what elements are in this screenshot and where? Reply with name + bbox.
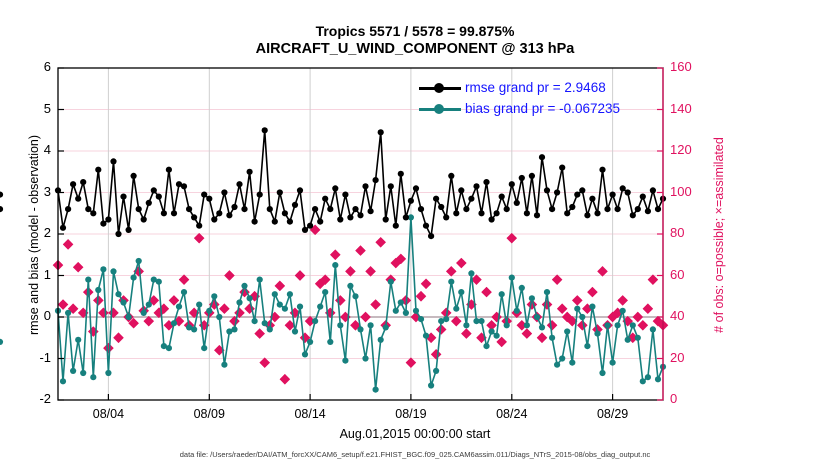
data-point bbox=[408, 198, 414, 204]
obs-marker bbox=[335, 295, 345, 305]
data-point bbox=[126, 227, 132, 233]
data-point bbox=[383, 324, 389, 330]
obs-marker bbox=[542, 299, 552, 309]
data-point bbox=[302, 227, 308, 233]
data-point bbox=[559, 355, 565, 361]
data-point bbox=[257, 192, 263, 198]
data-point bbox=[120, 194, 126, 200]
data-point bbox=[206, 308, 212, 314]
data-point bbox=[100, 221, 106, 227]
obs-marker bbox=[572, 295, 582, 305]
data-point bbox=[126, 314, 132, 320]
data-point bbox=[347, 214, 353, 220]
data-point bbox=[468, 270, 474, 276]
data-point bbox=[262, 320, 268, 326]
data-point bbox=[65, 310, 71, 316]
data-point bbox=[221, 189, 227, 195]
x-axis-tick-label: 08/14 bbox=[275, 408, 345, 421]
data-point bbox=[181, 289, 187, 295]
data-point bbox=[357, 212, 363, 218]
data-point bbox=[156, 194, 162, 200]
data-point bbox=[645, 208, 651, 214]
data-point bbox=[191, 326, 197, 332]
data-point bbox=[201, 345, 207, 351]
data-point bbox=[171, 210, 177, 216]
data-point bbox=[373, 387, 379, 393]
data-point bbox=[453, 210, 459, 216]
data-point bbox=[115, 231, 121, 237]
data-point bbox=[373, 177, 379, 183]
data-point bbox=[100, 266, 106, 272]
data-point bbox=[236, 181, 242, 187]
data-point bbox=[0, 339, 3, 345]
obs-marker bbox=[446, 266, 456, 276]
data-point bbox=[136, 206, 142, 212]
data-point bbox=[403, 310, 409, 316]
data-point bbox=[131, 173, 137, 179]
data-point bbox=[337, 322, 343, 328]
data-point bbox=[443, 214, 449, 220]
data-point bbox=[398, 299, 404, 305]
x-axis-tick-label: 08/29 bbox=[578, 408, 648, 421]
y-axis-right-tick-label: 0 bbox=[670, 392, 716, 405]
data-point bbox=[504, 322, 510, 328]
data-point bbox=[307, 339, 313, 345]
data-point bbox=[317, 304, 323, 310]
data-point bbox=[504, 206, 510, 212]
data-point bbox=[85, 206, 91, 212]
data-point bbox=[640, 378, 646, 384]
data-point bbox=[625, 337, 631, 343]
data-point bbox=[211, 293, 217, 299]
legend-item-label: rmse grand pr = 2.9468 bbox=[465, 78, 606, 98]
data-point bbox=[569, 204, 575, 210]
obs-marker bbox=[638, 320, 648, 330]
data-point bbox=[564, 210, 570, 216]
data-point bbox=[458, 289, 464, 295]
obs-marker bbox=[375, 237, 385, 247]
data-point bbox=[236, 299, 242, 305]
data-point bbox=[80, 370, 86, 376]
data-point bbox=[60, 225, 66, 231]
data-point bbox=[0, 192, 3, 198]
data-point bbox=[247, 295, 253, 301]
y-axis-right-tick-label: 20 bbox=[670, 351, 716, 364]
data-point bbox=[302, 351, 308, 357]
data-point bbox=[226, 212, 232, 218]
data-point bbox=[393, 308, 399, 314]
y-axis-left-tick-label: 3 bbox=[11, 185, 51, 198]
data-point bbox=[95, 287, 101, 293]
y-axis-left-tick-label: -1 bbox=[11, 351, 51, 364]
data-point bbox=[307, 223, 313, 229]
data-point bbox=[327, 206, 333, 212]
data-point bbox=[287, 291, 293, 297]
x-axis-caption: Aug.01,2015 00:00:00 start bbox=[0, 427, 830, 441]
data-point bbox=[584, 212, 590, 218]
data-point bbox=[509, 181, 515, 187]
data-point bbox=[499, 194, 505, 200]
data-point bbox=[483, 343, 489, 349]
data-point bbox=[645, 374, 651, 380]
data-point bbox=[494, 333, 500, 339]
data-point bbox=[241, 206, 247, 212]
data-point bbox=[478, 318, 484, 324]
data-point bbox=[509, 275, 515, 281]
data-point bbox=[413, 308, 419, 314]
data-point bbox=[650, 187, 656, 193]
data-point bbox=[216, 314, 222, 320]
data-point bbox=[70, 181, 76, 187]
obs-marker bbox=[456, 258, 466, 268]
data-point bbox=[584, 343, 590, 349]
data-point bbox=[136, 258, 142, 264]
y-axis-right-tick-label: 60 bbox=[670, 268, 716, 281]
data-point bbox=[105, 216, 111, 222]
data-point bbox=[413, 185, 419, 191]
data-point bbox=[362, 355, 368, 361]
data-point bbox=[75, 337, 81, 343]
data-point bbox=[428, 382, 434, 388]
data-point bbox=[347, 283, 353, 289]
y-axis-left-tick-label: 4 bbox=[11, 143, 51, 156]
data-point bbox=[635, 335, 641, 341]
data-point bbox=[529, 295, 535, 301]
obs-marker bbox=[330, 250, 340, 260]
data-point bbox=[141, 310, 147, 316]
y-axis-left-tick-label: -2 bbox=[11, 392, 51, 405]
data-point bbox=[615, 322, 621, 328]
data-point bbox=[141, 216, 147, 222]
obs-marker bbox=[552, 274, 562, 284]
data-point bbox=[90, 210, 96, 216]
data-point bbox=[287, 219, 293, 225]
obs-marker bbox=[63, 239, 73, 249]
obs-marker bbox=[73, 262, 83, 272]
data-point bbox=[156, 279, 162, 285]
data-point bbox=[378, 129, 384, 135]
y-axis-left-tick-label: 0 bbox=[11, 309, 51, 322]
data-point bbox=[272, 219, 278, 225]
data-point bbox=[252, 219, 258, 225]
obs-marker bbox=[648, 274, 658, 284]
x-axis-tick-label: 08/04 bbox=[73, 408, 143, 421]
data-point bbox=[337, 216, 343, 222]
data-point bbox=[131, 275, 137, 281]
data-point bbox=[610, 192, 616, 198]
obs-marker bbox=[537, 333, 547, 343]
data-point bbox=[75, 196, 81, 202]
data-point bbox=[403, 214, 409, 220]
obs-marker bbox=[421, 279, 431, 289]
data-point bbox=[297, 187, 303, 193]
data-point bbox=[267, 206, 273, 212]
data-point bbox=[433, 368, 439, 374]
data-point bbox=[80, 179, 86, 185]
data-point bbox=[221, 362, 227, 368]
obs-marker bbox=[219, 304, 229, 314]
data-point bbox=[332, 262, 338, 268]
data-point bbox=[554, 362, 560, 368]
legend-item[interactable]: rmse grand pr = 2.9468 bbox=[415, 78, 659, 98]
data-point bbox=[352, 206, 358, 212]
data-point bbox=[216, 210, 222, 216]
obs-marker bbox=[416, 291, 426, 301]
data-point bbox=[368, 208, 374, 214]
data-point bbox=[604, 322, 610, 328]
obs-marker bbox=[179, 274, 189, 284]
y-axis-right-tick-label: 100 bbox=[670, 185, 716, 198]
data-point bbox=[196, 223, 202, 229]
y-axis-right-tick-label: 120 bbox=[670, 143, 716, 156]
data-point bbox=[90, 374, 96, 380]
obs-marker bbox=[113, 333, 123, 343]
data-point bbox=[650, 326, 656, 332]
data-point bbox=[166, 167, 172, 173]
data-point bbox=[393, 223, 399, 229]
obs-marker bbox=[587, 287, 597, 297]
data-point bbox=[463, 206, 469, 212]
data-point bbox=[534, 212, 540, 218]
data-point bbox=[620, 308, 626, 314]
data-point bbox=[257, 277, 263, 283]
data-point bbox=[655, 206, 661, 212]
data-point bbox=[453, 306, 459, 312]
obs-marker bbox=[547, 320, 557, 330]
data-point bbox=[579, 314, 585, 320]
data-point bbox=[438, 204, 444, 210]
data-point bbox=[635, 206, 641, 212]
x-axis-tick-label: 08/19 bbox=[376, 408, 446, 421]
data-point bbox=[146, 200, 152, 206]
y-axis-left-tick-label: 5 bbox=[11, 102, 51, 115]
data-point bbox=[181, 183, 187, 189]
data-point bbox=[368, 322, 374, 328]
data-point bbox=[625, 189, 631, 195]
obs-marker bbox=[280, 374, 290, 384]
x-axis-tick-label: 08/09 bbox=[174, 408, 244, 421]
data-point bbox=[514, 200, 520, 206]
data-point bbox=[630, 322, 636, 328]
data-point bbox=[267, 326, 273, 332]
data-point bbox=[241, 283, 247, 289]
data-point bbox=[443, 316, 449, 322]
data-point bbox=[448, 173, 454, 179]
data-point bbox=[186, 206, 192, 212]
data-point bbox=[519, 175, 525, 181]
data-point bbox=[252, 318, 258, 324]
data-point bbox=[610, 360, 616, 366]
data-point bbox=[418, 206, 424, 212]
data-point bbox=[342, 358, 348, 364]
data-point bbox=[640, 194, 646, 200]
data-point bbox=[620, 185, 626, 191]
data-point bbox=[146, 302, 152, 308]
y-axis-right-tick-label: 40 bbox=[670, 309, 716, 322]
obs-marker bbox=[88, 326, 98, 336]
data-point bbox=[559, 165, 565, 171]
data-point bbox=[554, 189, 560, 195]
data-point bbox=[489, 328, 495, 334]
data-point bbox=[524, 210, 530, 216]
x-axis-tick-label: 08/24 bbox=[477, 408, 547, 421]
obs-marker bbox=[597, 266, 607, 276]
data-point bbox=[468, 196, 474, 202]
data-point bbox=[423, 223, 429, 229]
data-point bbox=[473, 183, 479, 189]
y-axis-right-tick-label: 140 bbox=[670, 102, 716, 115]
obs-marker bbox=[355, 245, 365, 255]
legend-marker-icon bbox=[434, 104, 444, 114]
obs-marker bbox=[103, 343, 113, 353]
data-point bbox=[322, 196, 328, 202]
obs-marker bbox=[360, 312, 370, 322]
data-point bbox=[176, 304, 182, 310]
obs-marker bbox=[406, 357, 416, 367]
data-point bbox=[357, 326, 363, 332]
data-point bbox=[544, 289, 550, 295]
data-point bbox=[231, 326, 237, 332]
legend-item-label: bias grand pr = -0.067235 bbox=[465, 99, 620, 119]
data-point bbox=[549, 206, 555, 212]
data-point bbox=[277, 302, 283, 308]
data-point bbox=[166, 345, 172, 351]
data-point bbox=[499, 291, 505, 297]
data-point bbox=[201, 192, 207, 198]
data-point bbox=[120, 299, 126, 305]
obs-marker bbox=[345, 266, 355, 276]
data-point bbox=[110, 158, 116, 164]
data-point bbox=[65, 206, 71, 212]
data-point bbox=[352, 293, 358, 299]
figure-canvas: Tropics 5571 / 5578 = 99.875% AIRCRAFT_U… bbox=[0, 0, 830, 470]
data-point bbox=[655, 376, 661, 382]
data-point bbox=[282, 210, 288, 216]
data-point bbox=[494, 210, 500, 216]
data-point bbox=[211, 216, 217, 222]
obs-marker bbox=[194, 233, 204, 243]
data-point bbox=[378, 337, 384, 343]
data-point bbox=[564, 328, 570, 334]
data-point bbox=[292, 328, 298, 334]
obs-marker bbox=[507, 233, 517, 243]
data-point bbox=[262, 127, 268, 133]
series-obs-assimilated bbox=[53, 225, 668, 385]
data-point bbox=[317, 219, 323, 225]
data-point bbox=[161, 210, 167, 216]
y-axis-left-tick-label: 6 bbox=[11, 60, 51, 73]
data-file-footer: data file: /Users/raeder/DAI/ATM_forcXX/… bbox=[0, 450, 830, 459]
y-axis-left-tick-label: 2 bbox=[11, 226, 51, 239]
obs-marker bbox=[365, 266, 375, 276]
data-point bbox=[433, 196, 439, 202]
data-point bbox=[574, 192, 580, 198]
obs-marker bbox=[431, 349, 441, 359]
data-point bbox=[322, 289, 328, 295]
data-point bbox=[292, 202, 298, 208]
chart-legend[interactable]: rmse grand pr = 2.9468bias grand pr = -0… bbox=[415, 78, 659, 120]
data-point bbox=[615, 206, 621, 212]
data-point bbox=[544, 187, 550, 193]
data-point bbox=[539, 324, 545, 330]
obs-marker bbox=[617, 295, 627, 305]
series-rmse-line bbox=[58, 130, 663, 236]
obs-marker bbox=[557, 304, 567, 314]
data-point bbox=[398, 171, 404, 177]
data-point bbox=[574, 306, 580, 312]
data-point bbox=[383, 216, 389, 222]
data-point bbox=[589, 196, 595, 202]
data-point bbox=[579, 187, 585, 193]
data-point bbox=[534, 314, 540, 320]
data-point bbox=[599, 370, 605, 376]
data-point bbox=[599, 167, 605, 173]
data-point bbox=[171, 320, 177, 326]
data-point bbox=[418, 316, 424, 322]
data-point bbox=[0, 206, 3, 212]
data-point bbox=[70, 368, 76, 374]
y-axis-left-tick-label: 1 bbox=[11, 268, 51, 281]
data-point bbox=[110, 268, 116, 274]
data-point bbox=[448, 279, 454, 285]
data-point bbox=[478, 210, 484, 216]
data-point bbox=[191, 214, 197, 220]
data-point bbox=[514, 308, 520, 314]
data-point bbox=[297, 304, 303, 310]
data-point bbox=[489, 216, 495, 222]
data-point bbox=[312, 206, 318, 212]
data-point bbox=[569, 360, 575, 366]
obs-marker bbox=[522, 328, 532, 338]
obs-marker bbox=[275, 281, 285, 291]
data-point bbox=[151, 187, 157, 193]
data-point bbox=[589, 304, 595, 310]
data-point bbox=[388, 279, 394, 285]
obs-marker bbox=[254, 328, 264, 338]
y-axis-right-tick-label: 80 bbox=[670, 226, 716, 239]
data-point bbox=[332, 185, 338, 191]
data-point bbox=[604, 206, 610, 212]
data-point bbox=[458, 187, 464, 193]
data-point bbox=[247, 169, 253, 175]
data-point bbox=[519, 285, 525, 291]
data-point bbox=[529, 173, 535, 179]
data-point bbox=[549, 335, 555, 341]
data-point bbox=[85, 277, 91, 283]
obs-marker bbox=[491, 312, 501, 322]
obs-marker bbox=[461, 328, 471, 338]
data-point bbox=[231, 204, 237, 210]
data-point bbox=[115, 291, 121, 297]
data-point bbox=[388, 183, 394, 189]
data-point bbox=[312, 318, 318, 324]
data-point bbox=[327, 339, 333, 345]
data-point bbox=[630, 212, 636, 218]
data-point bbox=[463, 322, 469, 328]
legend-marker-icon bbox=[434, 83, 444, 93]
data-point bbox=[539, 154, 545, 160]
obs-marker bbox=[224, 270, 234, 280]
data-point bbox=[594, 331, 600, 337]
obs-marker bbox=[370, 299, 380, 309]
data-point bbox=[483, 179, 489, 185]
obs-marker bbox=[643, 304, 653, 314]
legend-item[interactable]: bias grand pr = -0.067235 bbox=[415, 99, 659, 119]
obs-marker bbox=[633, 312, 643, 322]
data-point bbox=[95, 167, 101, 173]
obs-marker bbox=[295, 270, 305, 280]
data-point bbox=[272, 291, 278, 297]
